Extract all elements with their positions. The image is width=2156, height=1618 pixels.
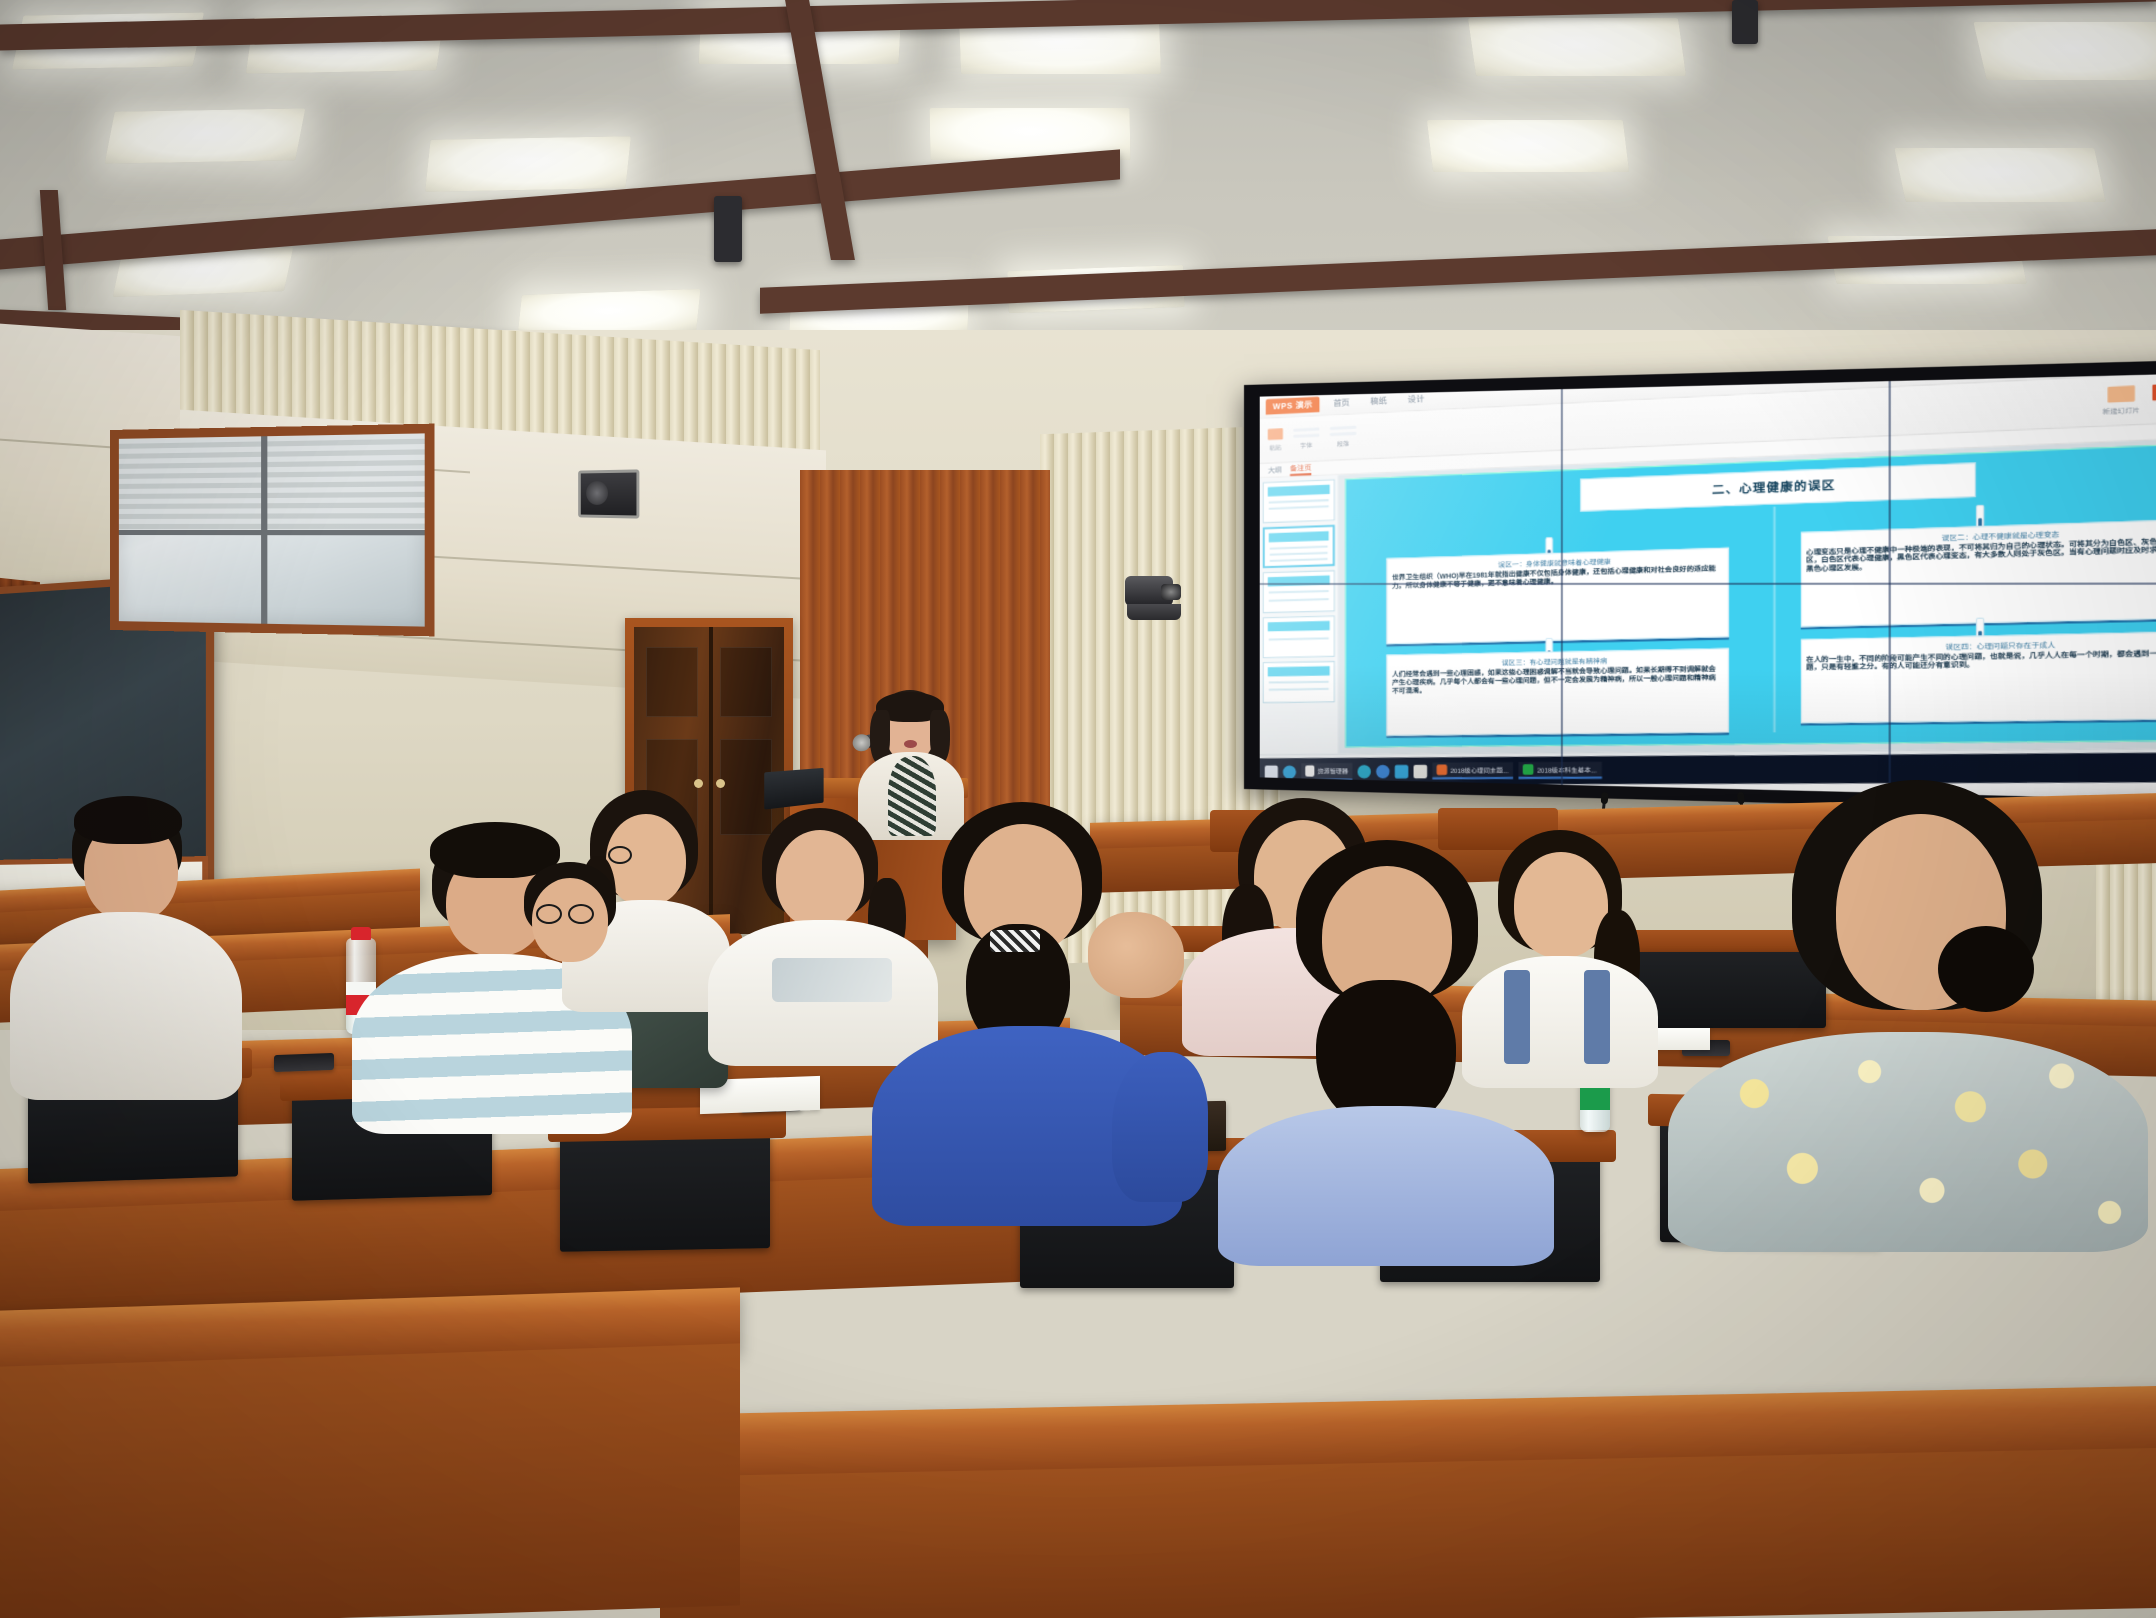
window xyxy=(110,424,435,637)
wps-titlebar-tab[interactable]: 设计 xyxy=(1400,391,1431,408)
taskbar-item-label: 2018级心理同主题… xyxy=(1450,765,1509,775)
slide-card-body: 人们经常会遇到一些心理困惑，如果这些心理困惑调解不当就会导致心理问题。如果长期得… xyxy=(1392,666,1723,696)
ptz-camera xyxy=(1125,576,1187,622)
ceiling-lamp xyxy=(1894,148,2105,202)
wps-green-icon xyxy=(1523,764,1534,775)
ribbon-group-label: 字体 xyxy=(1300,440,1312,450)
audience-member xyxy=(1686,780,2136,1250)
audience-member xyxy=(880,802,1180,1222)
slide-thumbnail[interactable] xyxy=(1263,479,1335,523)
ceiling-lamp xyxy=(1427,120,1629,172)
ceiling-lamp xyxy=(1973,22,2156,80)
slide-title: 二、心理健康的误区 xyxy=(1580,462,1977,511)
taskbar-item-label: 资源管理器 xyxy=(1317,766,1348,775)
edge-icon[interactable] xyxy=(1283,765,1296,778)
wps-titlebar-tab[interactable]: 稿纸 xyxy=(1363,393,1394,410)
presenter-mouth xyxy=(904,740,917,748)
smartphone[interactable] xyxy=(274,1053,334,1072)
slide-card: 误区一：身体健康就意味着心理健康 世界卫生组织（WHO)早在1981年就指出健康… xyxy=(1387,548,1729,645)
audience-member xyxy=(516,862,636,992)
ribbon-group[interactable]: 版式 xyxy=(2152,383,2156,414)
tee-print xyxy=(772,958,892,1002)
slide-thumbnail[interactable] xyxy=(1263,570,1335,613)
window-blind xyxy=(119,433,425,533)
bench-row-e-front xyxy=(660,1447,2156,1618)
ribbon-row xyxy=(1330,432,1357,436)
door-panel xyxy=(720,647,772,717)
start-icon[interactable] xyxy=(1265,765,1278,778)
wall-speaker xyxy=(578,469,639,518)
ribbon-group-label: 粘贴 xyxy=(1269,443,1281,453)
slide-card: 误区四：心理问题只存在于成人 在人的一生中，不同的阶段可能产生不同的心理问题，也… xyxy=(1800,630,2156,723)
torso-white-top xyxy=(1462,956,1658,1088)
denim-strap xyxy=(1584,970,1610,1064)
slide-thumbnail-panel[interactable] xyxy=(1260,475,1339,754)
slide-column-separator xyxy=(1773,507,1775,732)
hair-bun xyxy=(1938,926,2034,1012)
audience-member xyxy=(28,800,248,1100)
slide-card: 误区三：有心理问题就是有精神病 人们经常会遇到一些心理困惑，如果这些心理困惑调解… xyxy=(1387,648,1729,735)
current-slide[interactable]: 二、心理健康的误区 误区一：身体健康就意味着心理健康 世界卫生组织（WHO)早在… xyxy=(1345,441,2156,748)
ribbon-group[interactable]: 字体 xyxy=(1293,427,1319,450)
explorer-icon xyxy=(1305,765,1314,776)
audience-member xyxy=(1458,830,1658,1080)
bottle-cap xyxy=(351,927,371,940)
ribbon-group-label: 段落 xyxy=(1337,438,1349,448)
ribbon-group[interactable]: 新建幻灯片 xyxy=(2103,385,2140,416)
wps-presentation-app[interactable]: WPS 演示 首页 稿纸 设计 动画 幻灯片放映 审阅 粘贴 xyxy=(1260,372,2156,785)
paste-icon[interactable] xyxy=(1268,428,1283,440)
layout-icon[interactable] xyxy=(2152,383,2156,400)
door-panel xyxy=(646,647,698,717)
arm xyxy=(1112,1052,1208,1202)
wps-blue-icon[interactable] xyxy=(1395,764,1409,778)
slide-canvas[interactable]: 二、心理健康的误区 误区一：身体健康就意味着心理健康 世界卫生组织（WHO)早在… xyxy=(1339,436,2156,754)
ribbon-group[interactable]: 段落 xyxy=(1330,426,1357,449)
ribbon-row xyxy=(1293,434,1319,438)
torso-lightblue-top xyxy=(1218,1106,1554,1266)
door-knob[interactable] xyxy=(694,779,703,788)
hair-bow-icon xyxy=(990,930,1040,952)
browser-360-icon[interactable] xyxy=(1357,764,1370,778)
outline-tab[interactable]: 大纲 xyxy=(1268,465,1282,476)
ceiling-lamp xyxy=(425,136,631,191)
clasped-hands xyxy=(1088,912,1184,998)
video-wall-screen[interactable]: WPS 演示 首页 稿纸 设计 动画 幻灯片放映 审阅 粘贴 xyxy=(1260,372,2156,801)
hair-top xyxy=(74,796,182,844)
ceiling-speaker-pendant xyxy=(714,196,742,262)
eyeglasses-icon xyxy=(568,904,594,924)
ribbon-row xyxy=(1330,426,1357,430)
ceiling-lamp xyxy=(1468,18,1686,76)
head xyxy=(776,830,864,928)
slide-card: 误区二：心理不健康就是心理变态 心理变态只是心理不健康中一种极端的表现，不可将其… xyxy=(1800,518,2156,628)
head xyxy=(1514,852,1608,958)
slide-thumbnail[interactable] xyxy=(1263,616,1335,659)
taskbar-item-label: 2018级本科生基本… xyxy=(1537,764,1597,774)
bench-row-e2-front xyxy=(0,1343,740,1618)
eyeglasses-icon xyxy=(536,904,562,924)
ie-icon[interactable] xyxy=(1376,764,1389,778)
ceiling-lamp xyxy=(105,108,306,163)
torso-floral-blouse xyxy=(1668,1032,2148,1252)
door-knob[interactable] xyxy=(716,779,725,788)
lecture-hall-photo: WPS 演示 首页 稿纸 设计 动画 幻灯片放映 审阅 粘贴 xyxy=(0,0,2156,1618)
chair-back xyxy=(560,1128,770,1252)
laptop xyxy=(764,768,823,810)
taskbar-item-explorer[interactable]: 资源管理器 xyxy=(1301,763,1352,781)
torso-shirt xyxy=(10,912,242,1100)
ceiling-speaker-pendant xyxy=(1732,0,1758,44)
powerpoint-icon xyxy=(1437,765,1448,776)
ribbon-group[interactable]: 粘贴 xyxy=(1268,428,1283,452)
led-video-wall[interactable]: WPS 演示 首页 稿纸 设计 动画 幻灯片放映 审阅 粘贴 xyxy=(1244,358,2156,815)
slide-thumbnail-selected[interactable] xyxy=(1263,525,1335,569)
wps-logo: WPS 演示 xyxy=(1266,397,1320,415)
slide-thumbnail[interactable] xyxy=(1263,661,1335,703)
taskbar-item-ppt-2[interactable]: 2018级本科生基本… xyxy=(1519,762,1602,779)
taskbar-item-ppt-1[interactable]: 2018级心理同主题… xyxy=(1432,762,1513,779)
ribbon-row xyxy=(1293,427,1319,431)
window-mullion xyxy=(119,530,425,535)
notes-tab[interactable]: 备注页 xyxy=(1290,462,1311,475)
mail-icon[interactable] xyxy=(1414,764,1428,778)
wps-workspace[interactable]: 二、心理健康的误区 误区一：身体健康就意味着心理健康 世界卫生组织（WHO)早在… xyxy=(1260,436,2156,755)
denim-strap xyxy=(1504,970,1530,1064)
wps-titlebar-tab[interactable]: 首页 xyxy=(1326,395,1357,412)
newslide-icon[interactable] xyxy=(2108,385,2135,402)
ribbon-group-label: 新建幻灯片 xyxy=(2103,404,2140,416)
